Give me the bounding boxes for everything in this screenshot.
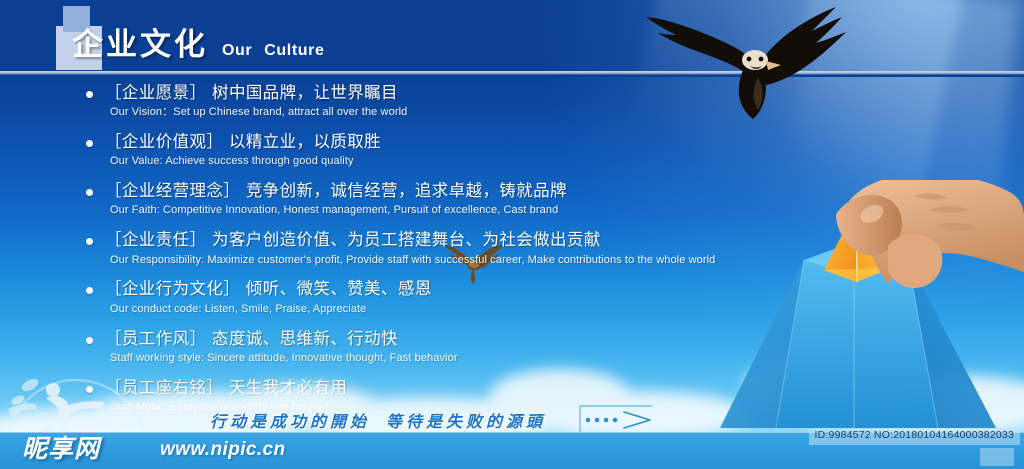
bullet-icon [86,287,93,294]
watermark-logo: 昵享网 [22,429,100,465]
item-title-cn: ［企业价值观］ 以精立业，以质取胜 [105,131,826,153]
arrow-icon [578,404,656,434]
calligraphy-slogan: 行动是成功的開始等待是失败的源頭 [210,408,570,434]
item-title-cn: ［企业愿景］ 树中国品牌，让世界瞩目 [105,82,826,104]
bullet-icon [86,189,93,196]
bullet-icon [86,337,93,344]
item-title-en: Our Vision：Set up Chinese brand, attract… [110,105,826,120]
slogan-phrase-2: 等待是失败的源頭 [386,412,546,431]
page-title: 企业文化 [72,30,208,61]
bullet-icon [86,238,93,245]
page-subtitle-word-2: Culture [264,42,324,59]
pyramid-with-hand [676,180,1024,438]
slogan-phrase-1: 行动是成功的開始 [210,412,370,431]
list-item: ［企业愿景］ 树中国品牌，让世界瞩目 Our Vision：Set up Chi… [86,82,826,120]
page-subtitle: OurCulture [222,42,324,60]
list-item: ［企业价值观］ 以精立业，以质取胜 Our Value: Achieve suc… [86,131,826,169]
footer-id-box [980,448,1014,466]
page-subtitle-word-1: Our [222,42,252,59]
image-id-label: ID:9984572 NO:20180104164000382033 [809,428,1020,445]
item-title-en: Our Value: Achieve success through good … [110,154,826,169]
corporate-culture-poster: 企业文化 OurCulture ［企业愿景］ 树 [0,0,1024,469]
bullet-icon [86,140,93,147]
bullet-icon [86,91,93,98]
watermark-url[interactable]: www.nipic.cn [160,439,286,461]
